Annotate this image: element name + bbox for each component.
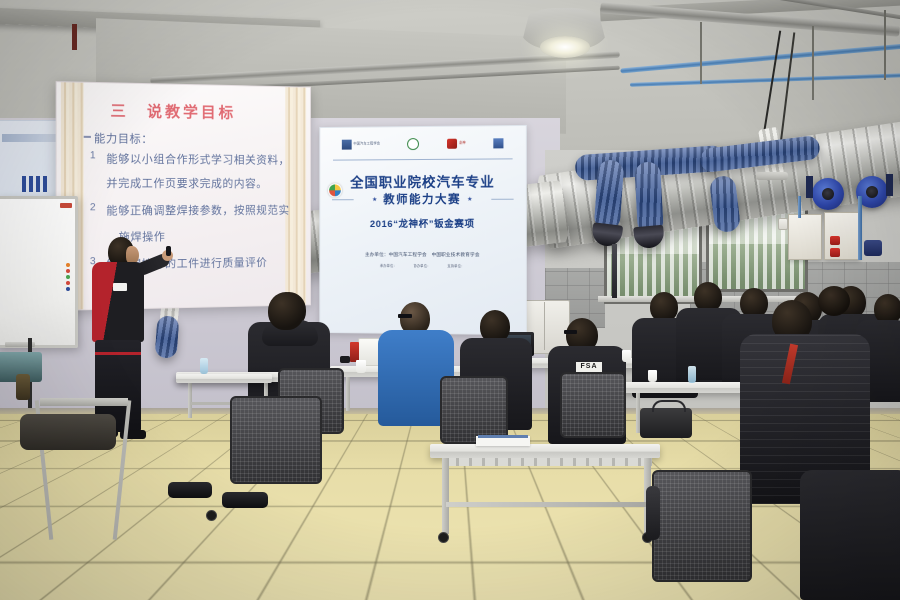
slide-item-text-2: 并完成工作页要求完成的内容。 (106, 175, 267, 191)
presentation-clicker[interactable] (166, 246, 171, 256)
extraction-arm-center-elbow (594, 159, 625, 231)
water-bottle-mid-2 (688, 366, 696, 383)
chair-front-left[interactable] (230, 396, 322, 484)
paper-cup-left (356, 360, 366, 373)
chair-mid-3[interactable] (560, 372, 626, 438)
front-table-leg-l (346, 377, 350, 411)
pen-mid (700, 380, 722, 382)
left-banner-bars (22, 176, 48, 192)
bag-strap (652, 400, 686, 412)
paper-cup-right (622, 350, 631, 362)
hose-reel-bracket-right (886, 174, 893, 196)
flex-hose-collar (756, 172, 788, 180)
extraction-arm-center-elbow2 (634, 161, 664, 234)
blue-pipe-wall (858, 196, 862, 260)
folding-chair-seat[interactable] (40, 398, 128, 406)
presenter-jacket (92, 262, 144, 342)
blue-pipe-wall-2 (798, 196, 801, 218)
electrical-panel-left[interactable] (788, 214, 822, 260)
mobile-whiteboard[interactable] (0, 196, 78, 348)
attendee-body-bottom-right (800, 470, 900, 600)
industrial-socket-2[interactable] (830, 248, 840, 257)
duct-hanger-1 (700, 22, 702, 84)
hose-reel-bracket-left (806, 176, 813, 198)
slide-dash (84, 136, 91, 138)
banner-year-line: 2016“龙神杯”钣金赛项 (320, 216, 526, 230)
extraction-arm-left (155, 315, 180, 358)
banner-organizer: 主办单位：中国汽车工程学会 中国职业技术教育学会 (320, 252, 526, 259)
trolley-cylinder (16, 374, 30, 400)
slide-item-text-3: 能够正确调整焊接参数，按照规范实 (106, 202, 289, 218)
clipboard-clip (478, 435, 528, 438)
table-front-rail (446, 502, 652, 507)
green-circle-logo (407, 138, 419, 150)
banner-title: 全国职业院校汽车专业 (320, 170, 526, 191)
slide-bullet-label: 能力目标： (94, 130, 153, 147)
shoe-front-left-2 (222, 492, 268, 508)
table-left-small (176, 374, 272, 383)
table-leg-ml-1 (188, 382, 192, 418)
cabinet-door-line (544, 302, 545, 350)
lamp-glow (540, 36, 590, 58)
paper-cup-mid-1 (648, 370, 657, 382)
shoulder-bag[interactable] (640, 408, 692, 438)
hose-reel-left-hub (822, 188, 834, 200)
chair-front-right-arm (646, 486, 660, 540)
left-banner-logo-text (2, 134, 56, 142)
attendee-glasses-2 (398, 314, 412, 318)
slide-item-num-3: 2 (90, 202, 96, 213)
banner-organizer-small: 承办单位： 协办单位： 支持单位： (320, 263, 526, 269)
slide-item-num-1: 1 (90, 150, 96, 161)
table-left-caster (206, 510, 217, 521)
wall-box (778, 218, 788, 230)
longshen-logo: 龙神 (447, 139, 466, 149)
table-front-leg-l (442, 458, 449, 534)
attendee-head-10 (818, 286, 850, 316)
duct-hanger-3 (884, 10, 886, 80)
shoe-front-left (168, 482, 212, 498)
event-banner: 中国汽车工程学会 龙神 全国职业院校汽车专业 ★ 教师能力大赛 ★ (319, 125, 527, 335)
presenter-badge (113, 283, 127, 291)
red-cup (350, 342, 359, 362)
whiteboard-corner-label (60, 203, 72, 208)
presenter-belt-stripe (95, 352, 141, 355)
valve-assembly (864, 240, 882, 256)
industrial-socket-1[interactable] (830, 236, 840, 245)
water-bottle-mid (200, 358, 208, 374)
table-front-apron (446, 458, 652, 466)
training-table-mid-right (620, 382, 760, 393)
desk-phone (340, 356, 350, 363)
whiteboard-magnets (66, 261, 70, 293)
hose-reel-right-hub (866, 186, 878, 198)
training-table-front (430, 444, 660, 458)
attendee-legs-front-left (20, 414, 116, 450)
slide-item-text-1: 能够以小组合作形式学习相关资料， (106, 150, 289, 167)
duct-hanger-2 (812, 26, 814, 100)
classroom-photo: 三 说教学目标 能力目标： 1 能够以小组合作形式学习相关资料， 并完成工作页要… (0, 0, 900, 600)
china-sae-logo: 中国汽车工程学会 (342, 139, 381, 149)
table-front-caster-l (438, 532, 449, 543)
blue-text-logo (494, 138, 504, 148)
ceiling-bracket-red (72, 24, 77, 50)
attendee-glasses-fsa (564, 330, 577, 334)
banner-logo-row: 中国汽车工程学会 龙神 (320, 126, 526, 156)
attendee-head-front-left (268, 292, 304, 330)
event-badge-icon (328, 183, 342, 197)
banner-subtitle: 教师能力大赛 (383, 191, 461, 207)
fume-hood-stem (612, 244, 617, 298)
chair-front-right[interactable] (652, 470, 752, 582)
chair-mid-2[interactable] (440, 376, 508, 444)
slide-heading: 三 说教学目标 (110, 100, 300, 124)
